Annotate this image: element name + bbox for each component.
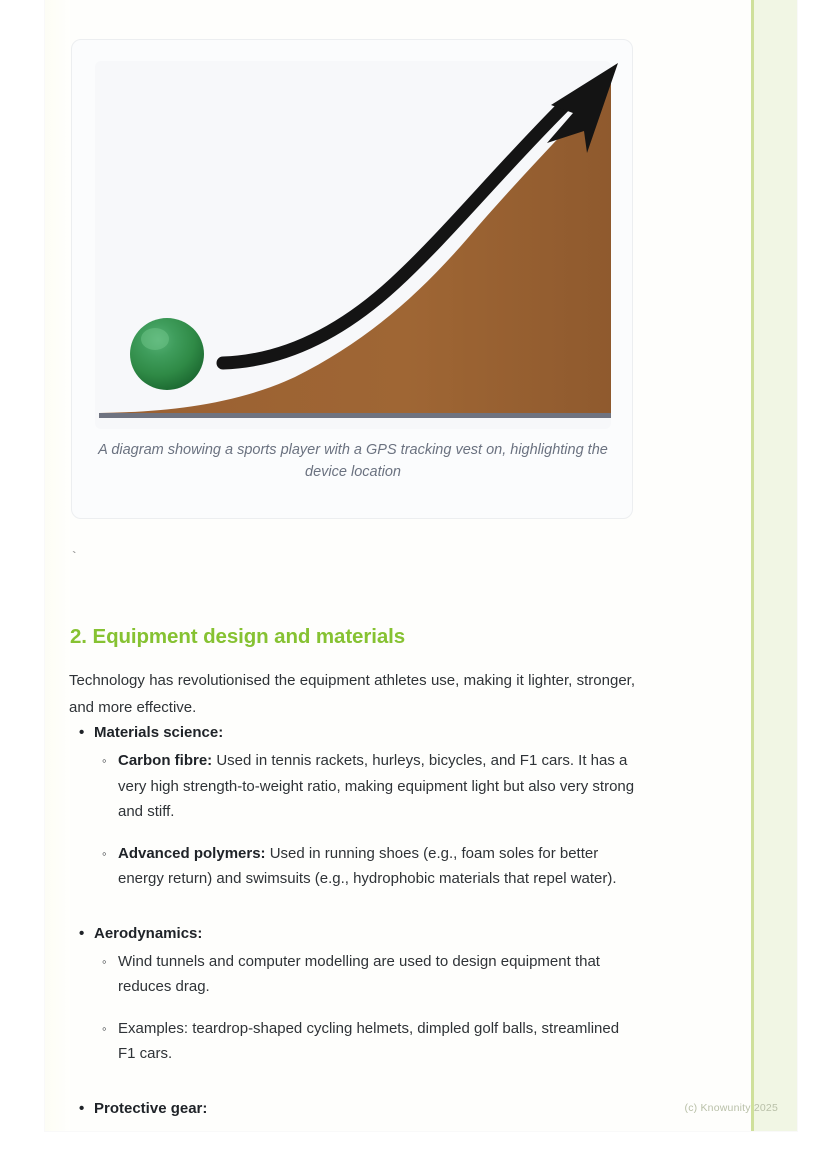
list-item-label: Protective gear: [94, 1100, 207, 1117]
bullet-circle-icon: ◦ [102, 841, 107, 867]
bullet-list: • Materials science: ◦ Carbon fibre: Use… [69, 720, 635, 1123]
list-group-spacer [69, 908, 635, 921]
list-item-text: Examples: teardrop-shaped cycling helmet… [118, 1020, 619, 1063]
right-rail-divider-line [751, 0, 754, 1131]
bullet-disc-icon: • [79, 1096, 84, 1121]
list-item: ◦ Wind tunnels and computer modelling ar… [69, 949, 635, 1000]
list-item: • Materials science: [69, 720, 635, 745]
footer-watermark: (c) Knowunity 2025 [685, 1102, 778, 1114]
sub-list: ◦ Wind tunnels and computer modelling ar… [69, 949, 635, 1067]
bullet-circle-icon: ◦ [102, 748, 107, 774]
sub-list: ◦ Carbon fibre: Used in tennis rackets, … [69, 748, 635, 892]
bullet-disc-icon: • [79, 921, 84, 946]
list-item-label: Materials science: [94, 724, 223, 741]
list-item-term: Carbon fibre: [118, 752, 212, 769]
list-item: • Protective gear: [69, 1096, 635, 1121]
list-item: ◦ Examples: teardrop-shaped cycling helm… [69, 1016, 635, 1067]
list-item-label: Aerodynamics: [94, 925, 202, 942]
list-item: • Aerodynamics: [69, 921, 635, 946]
green-ball-highlight [141, 328, 169, 350]
section-heading: 2. Equipment design and materials [70, 625, 405, 649]
hill-ball-arrow-diagram [95, 61, 611, 429]
list-item-term: Advanced polymers: [118, 845, 266, 862]
green-ball [130, 318, 204, 390]
bullet-disc-icon: • [79, 720, 84, 745]
right-side-rail [751, 0, 797, 1131]
section-intro-paragraph: Technology has revolutionised the equipm… [69, 667, 635, 721]
figure-caption: A diagram showing a sports player with a… [97, 439, 609, 483]
figure-image-panel [95, 61, 611, 429]
stray-backtick-character: ` [70, 550, 78, 566]
list-item-text: Wind tunnels and computer modelling are … [118, 953, 600, 996]
figure-card: A diagram showing a sports player with a… [71, 39, 633, 519]
ground-baseline [99, 413, 611, 418]
list-group-spacer [69, 1083, 635, 1096]
bullet-circle-icon: ◦ [102, 949, 107, 975]
bullet-circle-icon: ◦ [102, 1016, 107, 1042]
list-item: ◦ Advanced polymers: Used in running sho… [69, 841, 635, 892]
list-item: ◦ Carbon fibre: Used in tennis rackets, … [69, 748, 635, 825]
